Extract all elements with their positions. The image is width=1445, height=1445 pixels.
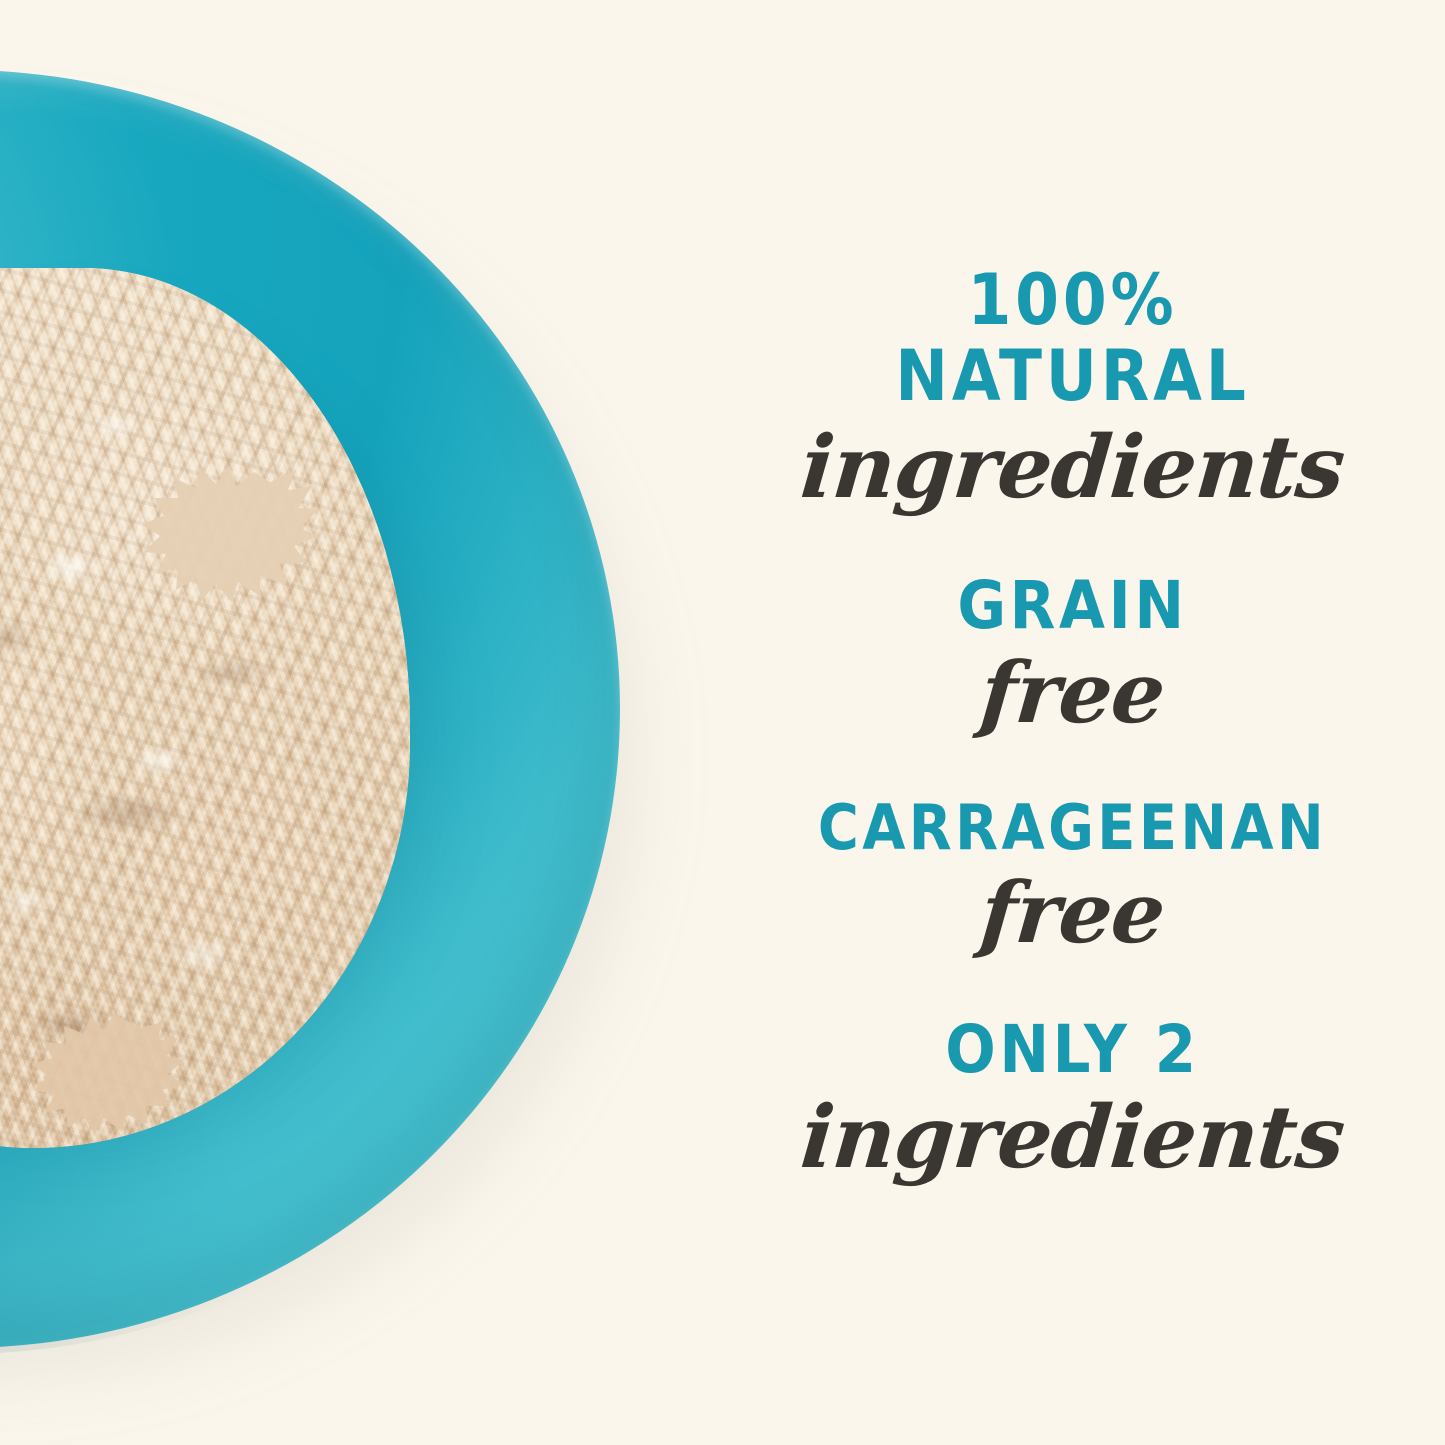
claims-list: 100% NATURAL ingredients GRAIN free CARR…: [700, 0, 1445, 1445]
claim-kicker-line-2: NATURAL: [700, 341, 1445, 411]
claim-kicker: 100% NATURAL: [700, 265, 1445, 411]
tuna-mound: [0, 268, 410, 1148]
claim-kicker: GRAIN: [700, 573, 1445, 639]
claim-grain-free: GRAIN free: [700, 573, 1445, 735]
claim-script: free: [696, 871, 1445, 955]
claim-script: free: [696, 651, 1445, 735]
claim-kicker: ONLY 2: [700, 1017, 1445, 1083]
claim-kicker-line-1: 100%: [968, 259, 1178, 341]
claim-only-2-ingredients: ONLY 2 ingredients: [700, 1017, 1445, 1181]
claim-natural-ingredients: 100% NATURAL ingredients: [700, 265, 1445, 511]
claim-carrageenan-free: CARRAGEENAN free: [700, 797, 1445, 955]
tuna-gloss-highlights: [0, 268, 410, 1148]
claim-script: ingredients: [696, 425, 1445, 511]
product-claims-graphic: 100% NATURAL ingredients GRAIN free CARR…: [0, 0, 1445, 1445]
tuna-plate-photo: [0, 0, 760, 1445]
claim-kicker: CARRAGEENAN: [700, 797, 1445, 859]
claim-script: ingredients: [696, 1095, 1445, 1181]
